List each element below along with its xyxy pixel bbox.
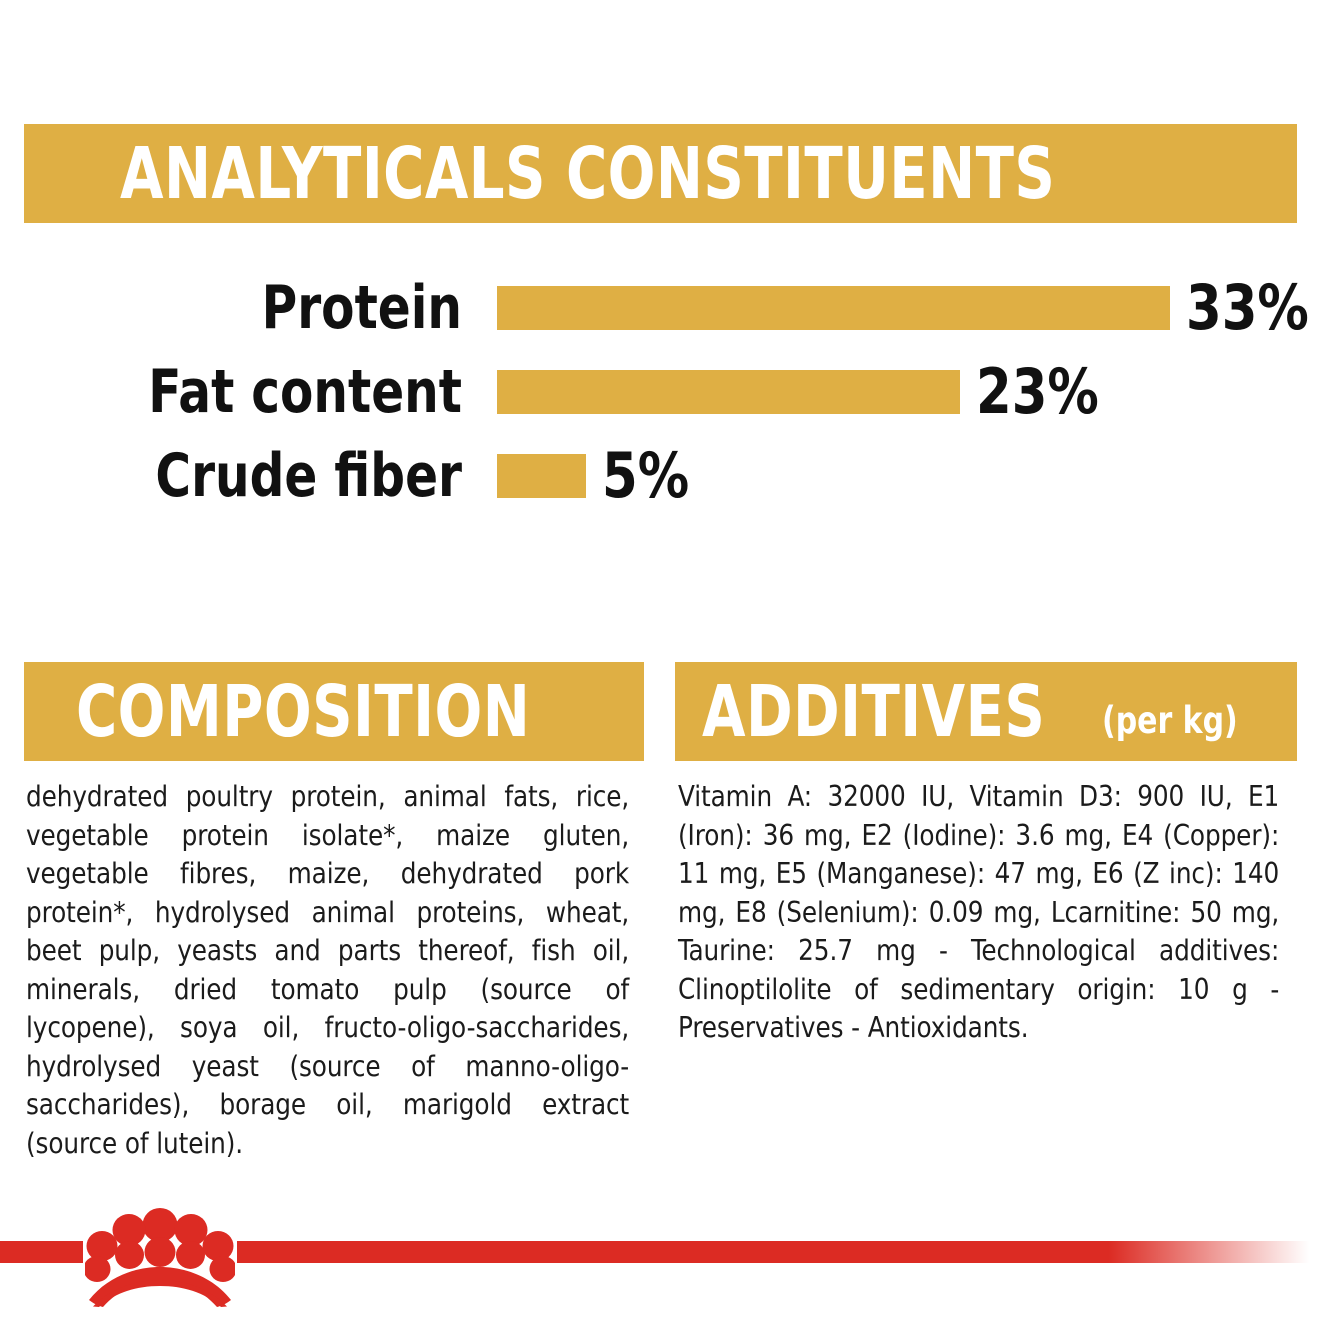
nutrient-bar-protein — [497, 286, 1170, 330]
additives-banner: ADDITIVES (per kg) — [675, 662, 1297, 761]
footer-rule-left — [0, 1241, 83, 1263]
additives-per-kg-subtitle: (per kg) — [1102, 702, 1238, 739]
nutrient-label-protein: Protein — [46, 278, 462, 338]
composition-banner: COMPOSITION — [24, 662, 644, 761]
analyticals-constituents-title: ANALYTICALS CONSTITUENTS — [120, 138, 1055, 209]
crown-icon — [85, 1203, 235, 1307]
composition-body-text: dehydrated poultry protein, animal fats,… — [26, 778, 629, 1163]
analyticals-constituents-banner: ANALYTICALS CONSTITUENTS — [24, 124, 1297, 223]
nutrient-value-fat-content: 23% — [976, 361, 1099, 423]
composition-title: COMPOSITION — [76, 676, 530, 747]
chart-row: Crude fiber 5% — [0, 434, 1320, 518]
nutrient-bar-crude-fiber — [497, 454, 586, 498]
bar-wrap-protein: 33% — [497, 277, 1320, 339]
chart-row: Fat content 23% — [0, 350, 1320, 434]
footer-rule-right — [237, 1241, 1320, 1263]
nutrient-value-crude-fiber: 5% — [602, 445, 689, 507]
bar-wrap-fat-content: 23% — [497, 361, 1110, 423]
royal-canin-crown-logo — [85, 1203, 235, 1307]
nutrient-label-crude-fiber: Crude fiber — [46, 446, 462, 506]
nutrient-value-protein: 33% — [1186, 277, 1309, 339]
chart-row: Protein 33% — [0, 266, 1320, 350]
bar-wrap-crude-fiber: 5% — [497, 445, 697, 507]
analyticals-bar-chart: Protein 33% Fat content 23% Crude fiber … — [0, 266, 1320, 506]
additives-title: ADDITIVES — [702, 676, 1045, 747]
nutrient-bar-fat-content — [497, 370, 960, 414]
nutrient-label-fat-content: Fat content — [46, 362, 462, 422]
additives-body-text: Vitamin A: 32000 IU, Vitamin D3: 900 IU,… — [678, 778, 1279, 1048]
nutrition-panel-page: ANALYTICALS CONSTITUENTS Protein 33% Fat… — [0, 0, 1320, 1320]
